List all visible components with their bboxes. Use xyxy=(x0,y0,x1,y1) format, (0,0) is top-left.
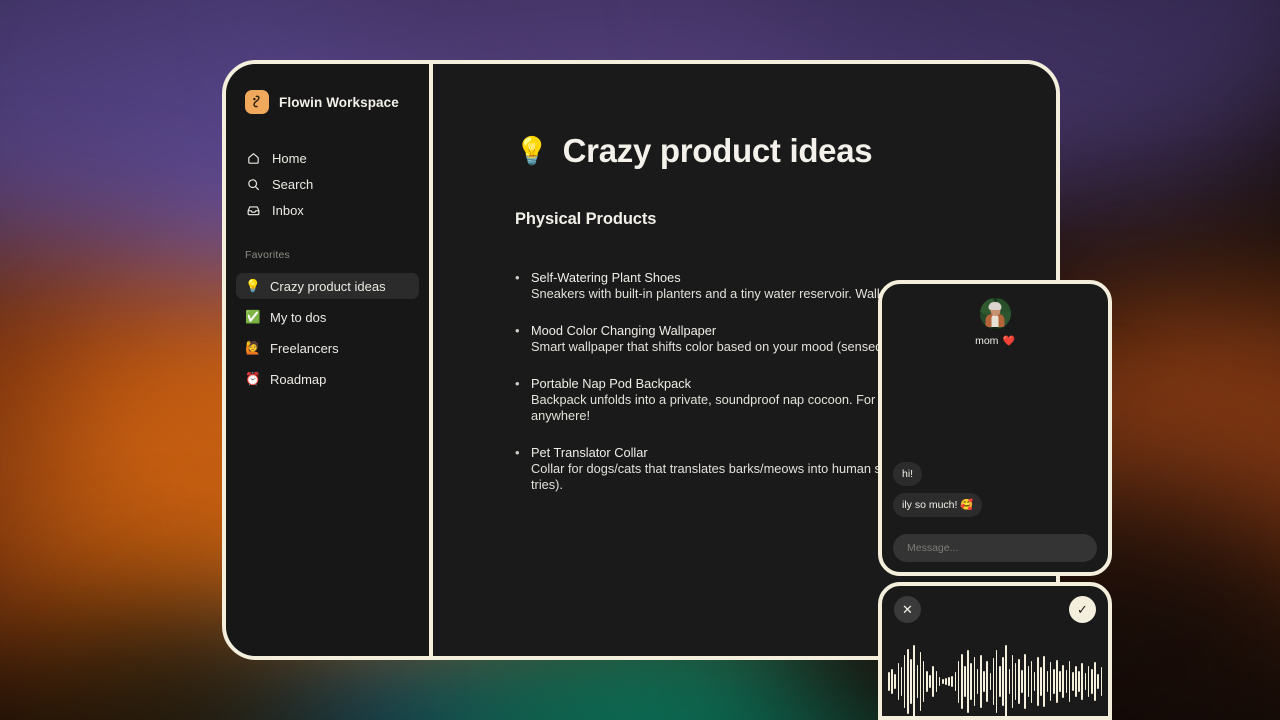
page-title: 💡 Crazy product ideas xyxy=(515,132,1056,170)
waveform-bar xyxy=(1034,672,1036,690)
waveform-bar xyxy=(1062,665,1064,699)
waveform-bar xyxy=(977,669,979,694)
waveform-bar xyxy=(1028,666,1030,698)
search-icon xyxy=(245,176,261,192)
person-raising-hand-icon: 🙋 xyxy=(245,342,260,355)
red-heart-icon: ❤️ xyxy=(1002,336,1014,347)
list-item-title: Mood Color Changing Wallpaper xyxy=(531,322,882,339)
message-row: ily so much! 🥰 xyxy=(893,493,1097,524)
waveform-bar xyxy=(961,654,963,709)
waveform-bar xyxy=(923,661,925,701)
waveform-bar xyxy=(929,675,931,688)
waveform-bar xyxy=(1072,672,1074,690)
bullet-icon: • xyxy=(515,269,522,302)
waveform-bar xyxy=(974,657,976,706)
waveform-bar xyxy=(1021,670,1023,694)
home-icon xyxy=(245,150,261,166)
waveform-bar xyxy=(951,676,953,686)
waveform-bar xyxy=(1053,669,1055,694)
message-input[interactable]: Message... xyxy=(893,534,1097,562)
sidebar-item-label: Inbox xyxy=(272,203,304,218)
waveform-bar xyxy=(1009,669,1011,694)
waveform-bar xyxy=(901,667,903,696)
waveform-bar xyxy=(1040,667,1042,696)
waveform-bar xyxy=(904,655,906,707)
waveform-bar xyxy=(1081,663,1083,700)
sidebar-item-home[interactable]: Home xyxy=(236,145,419,171)
waveform-bar xyxy=(1059,671,1061,691)
list-item-title: Self-Watering Plant Shoes xyxy=(531,269,883,286)
waveform-bar xyxy=(964,666,966,698)
sidebar-item-freelancers[interactable]: 🙋 Freelancers xyxy=(236,335,419,361)
waveform-bar xyxy=(1069,661,1071,701)
waveform-bar xyxy=(907,649,909,715)
waveform-bar xyxy=(891,669,893,694)
waveform-bar xyxy=(983,671,985,693)
waveform-bar xyxy=(932,666,934,698)
sidebar-item-label: Search xyxy=(272,177,313,192)
avatar[interactable] xyxy=(980,298,1011,329)
waveform-bar xyxy=(990,673,992,690)
waveform-bar xyxy=(936,671,938,691)
workspace-header[interactable]: Flowin Workspace xyxy=(226,90,429,114)
voice-recorder-panel: ✕ ✓ xyxy=(878,582,1112,720)
bullet-icon: • xyxy=(515,322,522,355)
sidebar-item-search[interactable]: Search xyxy=(236,171,419,197)
sidebar-item-label: Home xyxy=(272,151,307,166)
chat-contact-name: mom ❤️ xyxy=(975,335,1015,347)
favorites-list: 💡 Crazy product ideas ✅ My to dos 🙋 Free… xyxy=(226,273,429,392)
waveform-bar xyxy=(1005,645,1007,719)
chat-contact-name-text: mom xyxy=(975,335,998,347)
waveform-bar xyxy=(980,655,982,707)
waveform-bar xyxy=(939,677,941,685)
recorder-controls: ✕ ✓ xyxy=(882,586,1108,623)
list-item-description: Sneakers with built-in planters and a ti… xyxy=(531,286,883,302)
waveform-bar xyxy=(970,663,972,700)
sidebar-item-my-to-dos[interactable]: ✅ My to dos xyxy=(236,304,419,330)
page-title-text[interactable]: Crazy product ideas xyxy=(563,132,873,170)
lightbulb-icon: 💡 xyxy=(245,280,260,293)
waveform-bar xyxy=(1078,671,1080,693)
waveform-bar xyxy=(996,650,998,714)
check-icon: ✓ xyxy=(1077,603,1088,616)
sidebar: Flowin Workspace Home Search xyxy=(226,64,433,656)
waveform-bar xyxy=(986,661,988,701)
sidebar-item-label: My to dos xyxy=(270,310,326,325)
primary-nav: Home Search Inbox xyxy=(226,145,429,223)
bullet-icon: • xyxy=(515,444,522,493)
list-item-description: Backpack unfolds into a private, soundpr… xyxy=(531,392,886,424)
waveform-bar xyxy=(1088,666,1090,698)
waveform-bar xyxy=(898,663,900,700)
waveform-bar xyxy=(888,672,890,690)
waveform-bar xyxy=(948,677,950,685)
message-row: hi! xyxy=(893,462,1097,493)
workspace-name: Flowin Workspace xyxy=(279,95,399,110)
waveform-bar xyxy=(1085,673,1087,690)
check-mark-icon: ✅ xyxy=(245,311,260,324)
waveform-bar xyxy=(1101,667,1103,696)
waveform-bar xyxy=(967,650,969,714)
chat-bubble[interactable]: hi! xyxy=(893,462,922,486)
waveform-bar xyxy=(1056,660,1058,704)
waveform-bar xyxy=(1066,670,1068,694)
chat-message-list: hi! ily so much! 🥰 xyxy=(882,462,1108,524)
waveform-bar xyxy=(1024,654,1026,709)
waveform-bar xyxy=(917,665,919,699)
waveform-bar xyxy=(910,659,912,704)
sidebar-item-label: Freelancers xyxy=(270,341,339,356)
waveform-bar xyxy=(1047,671,1049,693)
chat-bubble[interactable]: ily so much! 🥰 xyxy=(893,493,982,517)
waveform-bar xyxy=(993,658,995,705)
close-icon: ✕ xyxy=(902,603,913,616)
waveform-bar xyxy=(958,661,960,703)
sidebar-item-roadmap[interactable]: ⏰ Roadmap xyxy=(236,366,419,392)
audio-waveform[interactable] xyxy=(882,639,1108,720)
waveform-bar xyxy=(945,678,947,685)
waveform-bar xyxy=(1002,657,1004,706)
sidebar-item-label: Roadmap xyxy=(270,372,326,387)
list-item-description: Smart wallpaper that shifts color based … xyxy=(531,339,882,355)
message-input-placeholder: Message... xyxy=(907,542,958,554)
confirm-recording-button[interactable]: ✓ xyxy=(1069,596,1096,623)
waveform-bar xyxy=(1097,674,1099,689)
alarm-clock-icon: ⏰ xyxy=(245,373,260,386)
bullet-icon: • xyxy=(515,375,522,424)
waveform-bar xyxy=(999,666,1001,696)
sidebar-item-label: Crazy product ideas xyxy=(270,279,386,294)
waveform-bar xyxy=(1091,669,1093,694)
waveform-bar xyxy=(926,671,928,691)
waveform-bar xyxy=(1018,659,1020,704)
list-item-description: Collar for dogs/cats that translates bar… xyxy=(531,461,881,493)
waveform-bar xyxy=(955,672,957,690)
list-item-title: Pet Translator Collar xyxy=(531,444,881,461)
waveform-bar xyxy=(1015,663,1017,700)
waveform-bar xyxy=(913,645,915,717)
cancel-recording-button[interactable]: ✕ xyxy=(894,596,921,623)
flowin-logo-icon xyxy=(245,90,269,114)
waveform-bar xyxy=(1031,661,1033,703)
inbox-icon xyxy=(245,202,261,218)
waveform-bar xyxy=(920,652,922,711)
chat-header: mom ❤️ xyxy=(882,284,1108,347)
lightbulb-icon: 💡 xyxy=(515,138,549,165)
waveform-bar xyxy=(1094,662,1096,701)
sidebar-item-crazy-product-ideas[interactable]: 💡 Crazy product ideas xyxy=(236,273,419,299)
waveform-bar xyxy=(1037,657,1039,706)
waveform-bar xyxy=(1012,655,1014,709)
list-item-title: Portable Nap Pod Backpack xyxy=(531,375,886,392)
waveform-bar xyxy=(1075,666,1077,696)
sidebar-item-inbox[interactable]: Inbox xyxy=(236,197,419,223)
waveform-bar xyxy=(894,674,896,689)
waveform-bar xyxy=(942,679,944,684)
waveform-bar xyxy=(1043,656,1045,706)
waveform-bar xyxy=(1050,662,1052,701)
phone-chat-panel: mom ❤️ hi! ily so much! 🥰 Message... xyxy=(878,280,1112,576)
section-heading[interactable]: Physical Products xyxy=(515,210,1056,229)
favorites-section-label: Favorites xyxy=(226,249,429,261)
